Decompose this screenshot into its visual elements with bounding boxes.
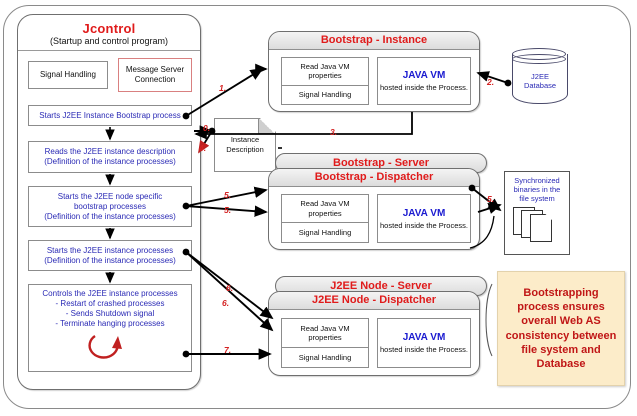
arrow-label-3: 3.	[330, 127, 337, 137]
j2ee-node-dispatcher-process: J2EE Node - Dispatcher Read Java VM prop…	[268, 291, 480, 376]
bi-read-props-line2: properties	[300, 71, 349, 80]
database-ring-icon	[512, 54, 566, 64]
starts-node-line3: (Definition of the instance processes)	[44, 212, 176, 222]
bi-java-vm-sub: hosted inside the Process.	[380, 83, 468, 92]
step-starts-instance-box: Starts the J2EE instance processes (Defi…	[28, 240, 192, 271]
step-starts-bootstrap-box: Starts J2EE Instance Bootstrap process	[28, 105, 192, 126]
step-reads-description-box: Reads the J2EE instance description (Def…	[28, 141, 192, 173]
file-system-line2: binaries in the	[505, 185, 569, 194]
jcontrol-title: Jcontrol	[18, 15, 200, 36]
bi-java-vm-title: JAVA VM	[403, 70, 446, 81]
bootstrap-dispatcher-read-props-box: Read Java VM properties Signal Handling	[281, 194, 369, 243]
reads-description-line2: (Definition of the instance processes)	[44, 157, 176, 167]
file-system-box: Synchronized binaries in the file system	[504, 171, 570, 255]
jcontrol-signal-handling-box: Signal Handling	[28, 61, 108, 89]
bootstrap-dispatcher-header: Bootstrap - Dispatcher	[269, 169, 479, 187]
message-server-line2: Connection	[126, 75, 184, 85]
bootstrap-instance-java-vm-box: JAVA VM hosted inside the Process.	[377, 57, 471, 105]
controls-line3: - Sends Shutdown signal	[29, 309, 191, 319]
starts-node-line2: bootstrap processes	[44, 202, 176, 212]
arrow-label-5c: 5.	[487, 194, 494, 204]
bd-read-props-line1: Read Java VM	[300, 199, 349, 208]
instance-description-line1: Instance	[226, 135, 264, 145]
j2ee-node-dispatcher-signal-handling: Signal Handling	[282, 348, 368, 367]
bootstrap-instance-read-props: Read Java VM properties	[282, 58, 368, 86]
jcontrol-divider	[18, 50, 200, 51]
file-system-label: Synchronized binaries in the file system	[505, 172, 569, 203]
arrow-label-7: 7.	[224, 345, 231, 355]
file-system-line3: file system	[505, 194, 569, 203]
controls-line1: Controls the J2EE instance processes	[29, 289, 191, 299]
bootstrap-dispatcher-process: Bootstrap - Dispatcher Read Java VM prop…	[268, 168, 480, 250]
bootstrap-instance-process: Bootstrap - Instance Read Java VM proper…	[268, 31, 480, 112]
arrow-label-2: 2.	[487, 77, 494, 87]
arrow-label-0: 0.	[203, 123, 210, 133]
starts-instance-line1: Starts the J2EE instance processes	[44, 246, 176, 256]
arrow-label-5b: 5.	[224, 205, 231, 215]
jd-java-vm-sub: hosted inside the Process.	[380, 345, 468, 354]
file-stack-icon	[505, 205, 569, 245]
jd-read-props-line2: properties	[300, 333, 349, 342]
bootstrapping-note: Bootstrapping process ensures overall We…	[497, 271, 625, 386]
controls-line2: - Restart of crashed processes	[29, 299, 191, 309]
starts-instance-line2: (Definition of the instance processes)	[44, 256, 176, 266]
bootstrap-dispatcher-java-vm-box: JAVA VM hosted inside the Process.	[377, 194, 471, 243]
bootstrap-instance-read-props-box: Read Java VM properties Signal Handling	[281, 57, 369, 105]
database-line1: J2EE	[512, 72, 568, 81]
bootstrap-instance-signal-handling: Signal Handling	[282, 86, 368, 104]
bootstrap-instance-header: Bootstrap - Instance	[269, 32, 479, 50]
j2ee-node-dispatcher-read-props-box: Read Java VM properties Signal Handling	[281, 318, 369, 368]
arrow-label-6a: 6.	[226, 283, 233, 293]
arrow-label-1: 1.	[219, 83, 226, 93]
database-line2: Database	[512, 81, 568, 90]
bd-java-vm-title: JAVA VM	[403, 208, 446, 219]
j2ee-node-dispatcher-header: J2EE Node - Dispatcher	[269, 292, 479, 310]
arrow-label-5a: 5.	[224, 190, 231, 200]
jd-java-vm-title: JAVA VM	[403, 332, 446, 343]
message-server-line1: Message Server	[126, 65, 184, 75]
arrow-label-4: 4.	[199, 143, 206, 153]
jcontrol-signal-handling-label: Signal Handling	[40, 70, 96, 80]
instance-description-document: Instance Description	[214, 118, 276, 172]
jcontrol-message-server-box: Message Server Connection	[118, 58, 192, 92]
bd-java-vm-sub: hosted inside the Process.	[380, 221, 468, 230]
document-icon	[530, 214, 552, 242]
j2ee-node-dispatcher-java-vm-box: JAVA VM hosted inside the Process.	[377, 318, 471, 368]
arrow-label-6b: 6.	[222, 298, 229, 308]
j2ee-database-cylinder: J2EE Database	[512, 46, 568, 112]
file-system-line1: Synchronized	[505, 176, 569, 185]
bootstrap-dispatcher-read-props: Read Java VM properties	[282, 195, 368, 223]
step-starts-node-box: Starts the J2EE node specific bootstrap …	[28, 186, 192, 227]
instance-description-line2: Description	[226, 145, 264, 155]
diagram-canvas: Jcontrol (Startup and control program) S…	[0, 0, 637, 416]
database-label: J2EE Database	[512, 72, 568, 91]
reads-description-line1: Reads the J2EE instance description	[44, 147, 176, 157]
jd-read-props-line1: Read Java VM	[300, 324, 349, 333]
step-controls-box: Controls the J2EE instance processes - R…	[28, 284, 192, 372]
jcontrol-subtitle: (Startup and control program)	[18, 36, 200, 50]
j2ee-node-dispatcher-read-props: Read Java VM properties	[282, 319, 368, 348]
controls-line4: - Terminate hanging processes	[29, 319, 191, 329]
bd-read-props-line2: properties	[300, 209, 349, 218]
bootstrap-dispatcher-signal-handling: Signal Handling	[282, 223, 368, 242]
starts-node-line1: Starts the J2EE node specific	[44, 192, 176, 202]
starts-bootstrap-label: Starts J2EE Instance Bootstrap process	[39, 111, 180, 121]
bi-read-props-line1: Read Java VM	[300, 62, 349, 71]
